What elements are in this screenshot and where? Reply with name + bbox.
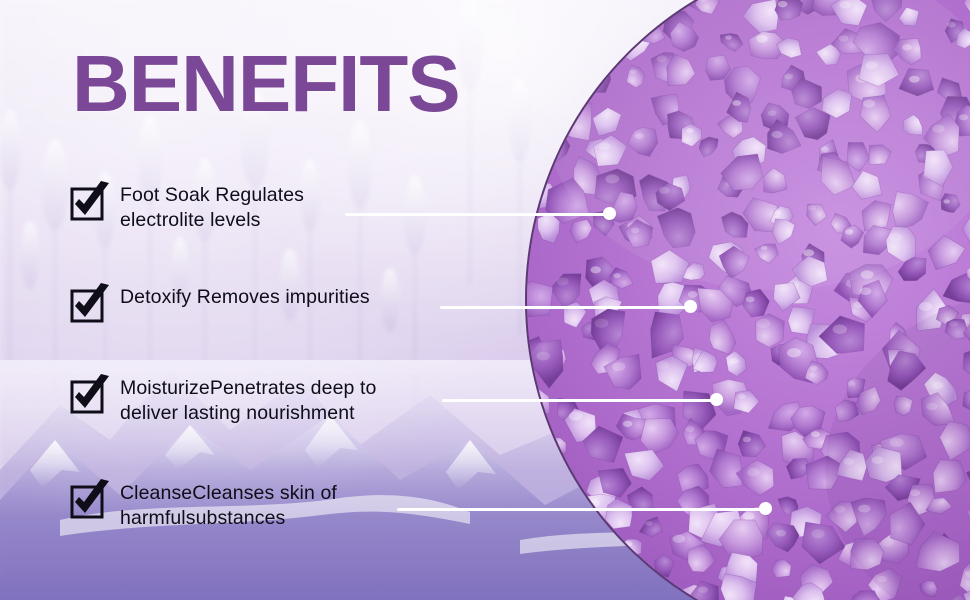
- leader-line: [397, 508, 771, 511]
- infographic-canvas: BENEFITS Foot Soak Regulates electrolite…: [0, 0, 970, 600]
- page-title: BENEFITS: [72, 44, 460, 124]
- benefit-label: Detoxify Removes impurities: [120, 285, 370, 310]
- leader-line: [442, 399, 722, 402]
- benefit-item-moisturize: MoisturizePenetrates deep to deliver las…: [70, 376, 376, 426]
- leader-line: [440, 306, 696, 309]
- checkbox-checked-icon: [70, 483, 104, 517]
- checkbox-checked-icon: [70, 287, 104, 321]
- benefit-label: MoisturizePenetrates deep to deliver las…: [120, 376, 376, 426]
- benefit-item-foot-soak: Foot Soak Regulates electrolite levels: [70, 183, 304, 233]
- checkbox-checked-icon: [70, 378, 104, 412]
- benefit-item-cleanse: CleanseCleanses skin of harmfulsubstance…: [70, 481, 337, 531]
- leader-endpoint-dot: [603, 207, 616, 220]
- leader-line: [345, 213, 615, 216]
- leader-endpoint-dot: [759, 502, 772, 515]
- benefit-label: CleanseCleanses skin of harmfulsubstance…: [120, 481, 337, 531]
- benefit-label: Foot Soak Regulates electrolite levels: [120, 183, 304, 233]
- checkbox-checked-icon: [70, 185, 104, 219]
- leader-endpoint-dot: [710, 393, 723, 406]
- leader-endpoint-dot: [684, 300, 697, 313]
- benefit-item-detoxify: Detoxify Removes impurities: [70, 285, 370, 321]
